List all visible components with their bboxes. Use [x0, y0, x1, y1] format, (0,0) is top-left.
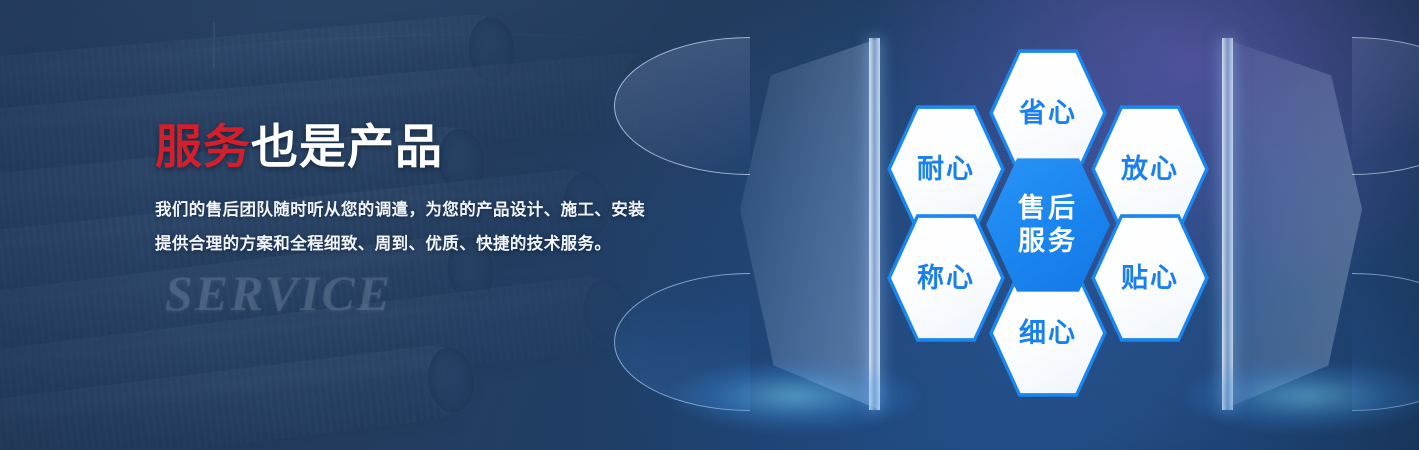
center-label-line-2: 服务 — [1018, 226, 1078, 256]
cylinder-edge — [1222, 38, 1233, 410]
hexagon-center-after-sales-service[interactable]: 售后 服务 — [986, 154, 1110, 296]
hexagon-label: 耐心 — [917, 154, 975, 184]
service-watermark: SERVICE — [165, 264, 392, 322]
hexagon-label: 称心 — [917, 263, 975, 293]
description-line-1: 我们的售后团队随时听从您的调遣，为您的产品设计、施工、安装 — [155, 194, 735, 228]
cylinder-shell — [740, 38, 880, 410]
headline-rest: 也是产品 — [251, 120, 443, 173]
hexagon-label: 省心 — [1019, 98, 1077, 128]
headline-accent: 服务 — [155, 120, 251, 173]
hexagon-label: 放心 — [1121, 154, 1179, 184]
right-glass-cylinder — [1222, 38, 1362, 410]
cylinder-glow — [1182, 360, 1419, 432]
hexagon-cluster: 耐心 称心 省心 细心 放心 贴心 — [876, 46, 1216, 404]
cylinder-shell — [1222, 38, 1362, 410]
description-line-2: 提供合理的方案和全程细致、周到、优质、快捷的技术服务。 — [155, 228, 735, 262]
left-glass-cylinder — [740, 38, 880, 410]
hexagon-label: 贴心 — [1121, 263, 1179, 293]
center-label-line-1: 售后 — [1018, 193, 1078, 223]
description-text: 我们的售后团队随时听从您的调遣，为您的产品设计、施工、安装 提供合理的方案和全程… — [155, 194, 735, 262]
hexagon-chenxin[interactable]: 称心 — [887, 210, 1005, 346]
hexagon-center-label: 售后 服务 — [1018, 192, 1078, 258]
hexagon-tiexin[interactable]: 贴心 — [1091, 210, 1209, 346]
service-banner: 服务也是产品 我们的售后团队随时听从您的调遣，为您的产品设计、施工、安装 提供合… — [0, 0, 1419, 450]
hexagon-label: 细心 — [1019, 318, 1077, 348]
